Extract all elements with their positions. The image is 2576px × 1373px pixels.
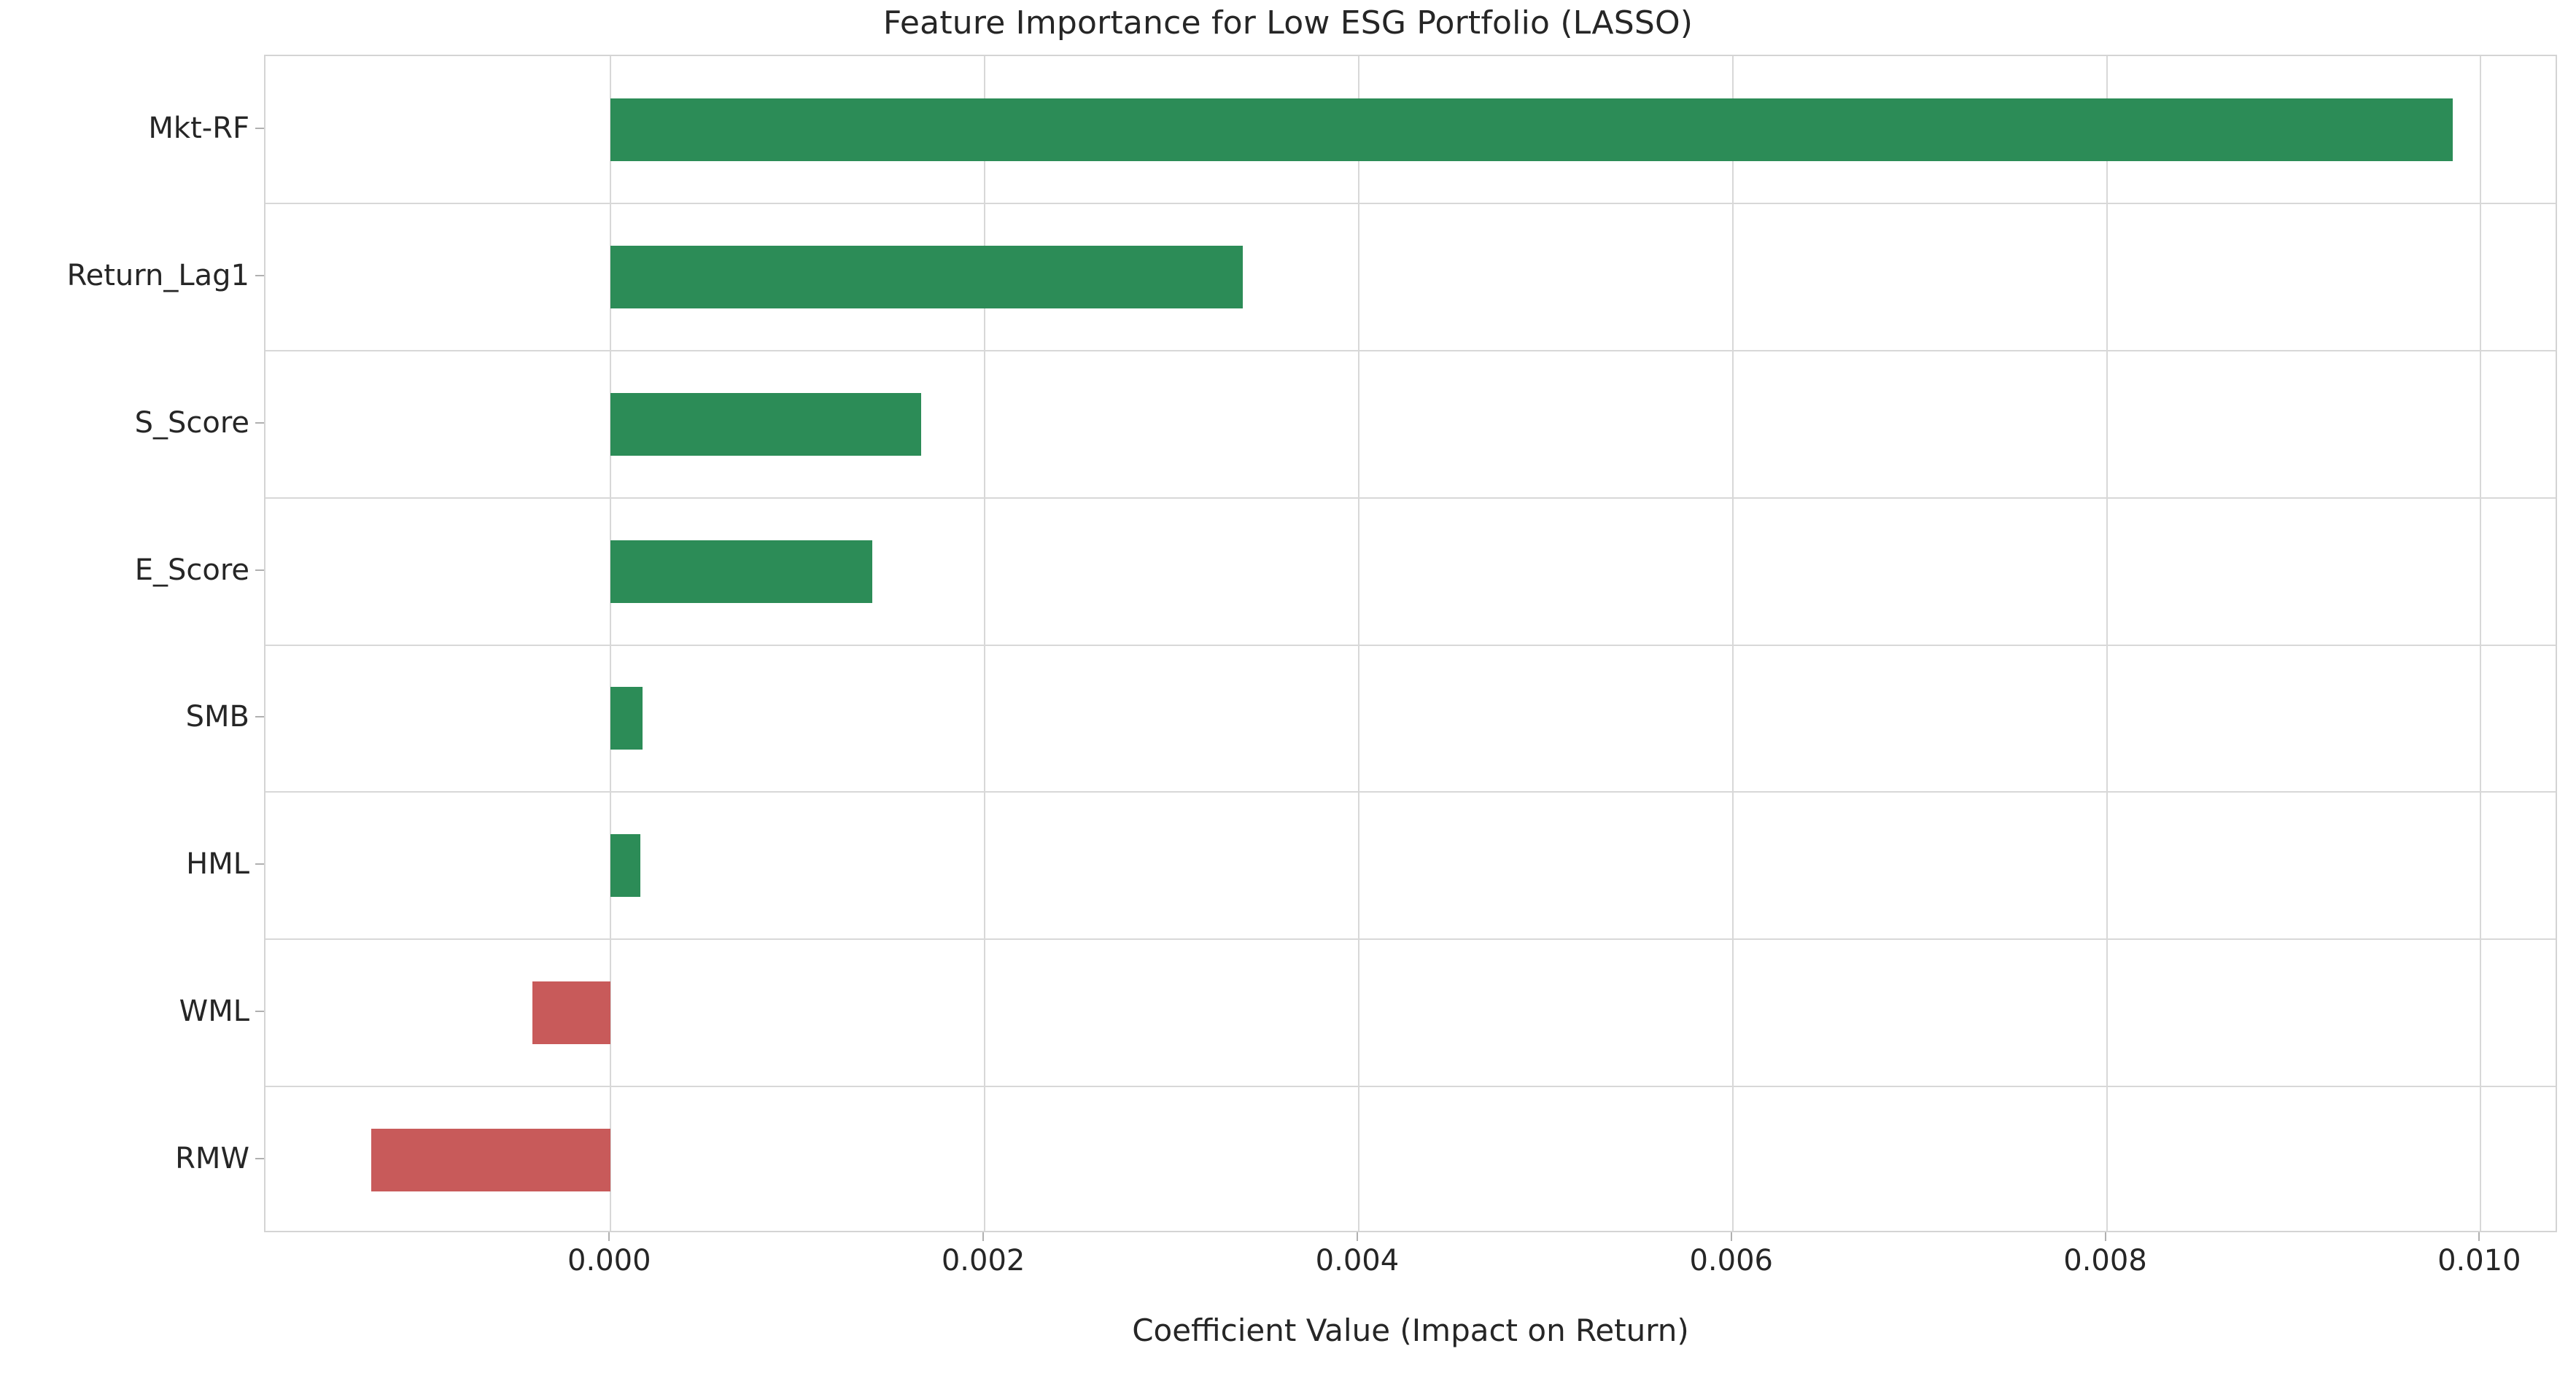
gridline-horizontal-7 (265, 1086, 2556, 1087)
y-tick-label-hml: HML (9, 847, 249, 881)
y-tick-mark-6 (255, 1011, 264, 1012)
y-tick-mark-7 (255, 1158, 264, 1159)
chart-title: Feature Importance for Low ESG Portfolio… (0, 4, 2576, 42)
plot-area (264, 55, 2557, 1232)
x-tick-mark-3 (1731, 1232, 1732, 1241)
y-tick-label-rmw: RMW (9, 1142, 249, 1175)
x-tick-mark-0 (608, 1232, 610, 1241)
gridline-horizontal-5 (265, 791, 2556, 793)
x-axis-label: Coefficient Value (Impact on Return) (264, 1312, 2557, 1348)
chart-figure: Feature Importance for Low ESG Portfolio… (0, 0, 2576, 1373)
y-tick-label-smb: SMB (9, 700, 249, 734)
bar-s-score (610, 393, 921, 456)
x-tick-label-3: 0.006 (1637, 1244, 1826, 1277)
x-tick-mark-5 (2478, 1232, 2480, 1241)
x-tick-mark-4 (2105, 1232, 2106, 1241)
gridline-horizontal-1 (265, 203, 2556, 204)
gridline-vertical-2 (1358, 56, 1359, 1231)
y-tick-mark-5 (255, 863, 264, 865)
gridline-horizontal-6 (265, 938, 2556, 940)
y-tick-label-return-lag1: Return_Lag1 (9, 259, 249, 292)
y-tick-label-s-score: S_Score (9, 406, 249, 440)
y-tick-mark-3 (255, 569, 264, 571)
x-tick-label-1: 0.002 (888, 1244, 1078, 1277)
gridline-horizontal-4 (265, 645, 2556, 646)
y-tick-label-wml: WML (9, 995, 249, 1028)
y-tick-mark-4 (255, 716, 264, 717)
bar-wml (532, 981, 611, 1044)
x-tick-label-2: 0.004 (1262, 1244, 1452, 1277)
x-tick-mark-1 (982, 1232, 984, 1241)
gridline-vertical-4 (2106, 56, 2108, 1231)
y-tick-mark-1 (255, 275, 264, 276)
gridline-horizontal-3 (265, 497, 2556, 499)
x-tick-label-4: 0.008 (2011, 1244, 2200, 1277)
x-tick-mark-2 (1357, 1232, 1358, 1241)
bar-hml (610, 834, 640, 897)
bar-smb (610, 687, 643, 750)
gridline-vertical-3 (1732, 56, 1734, 1231)
bar-return-lag1 (610, 246, 1243, 308)
gridline-vertical-1 (984, 56, 985, 1231)
bar-mkt-rf (610, 98, 2453, 161)
y-tick-mark-0 (255, 128, 264, 129)
x-tick-label-0: 0.000 (514, 1244, 704, 1277)
y-tick-label-e-score: E_Score (9, 553, 249, 587)
bar-e-score (610, 540, 872, 603)
gridline-vertical-0 (610, 56, 611, 1231)
x-tick-label-5: 0.010 (2384, 1244, 2574, 1277)
gridline-vertical-5 (2480, 56, 2481, 1231)
gridline-horizontal-2 (265, 350, 2556, 351)
y-tick-label-mkt-rf: Mkt-RF (9, 112, 249, 145)
y-tick-mark-2 (255, 422, 264, 424)
bar-rmw (371, 1129, 610, 1191)
